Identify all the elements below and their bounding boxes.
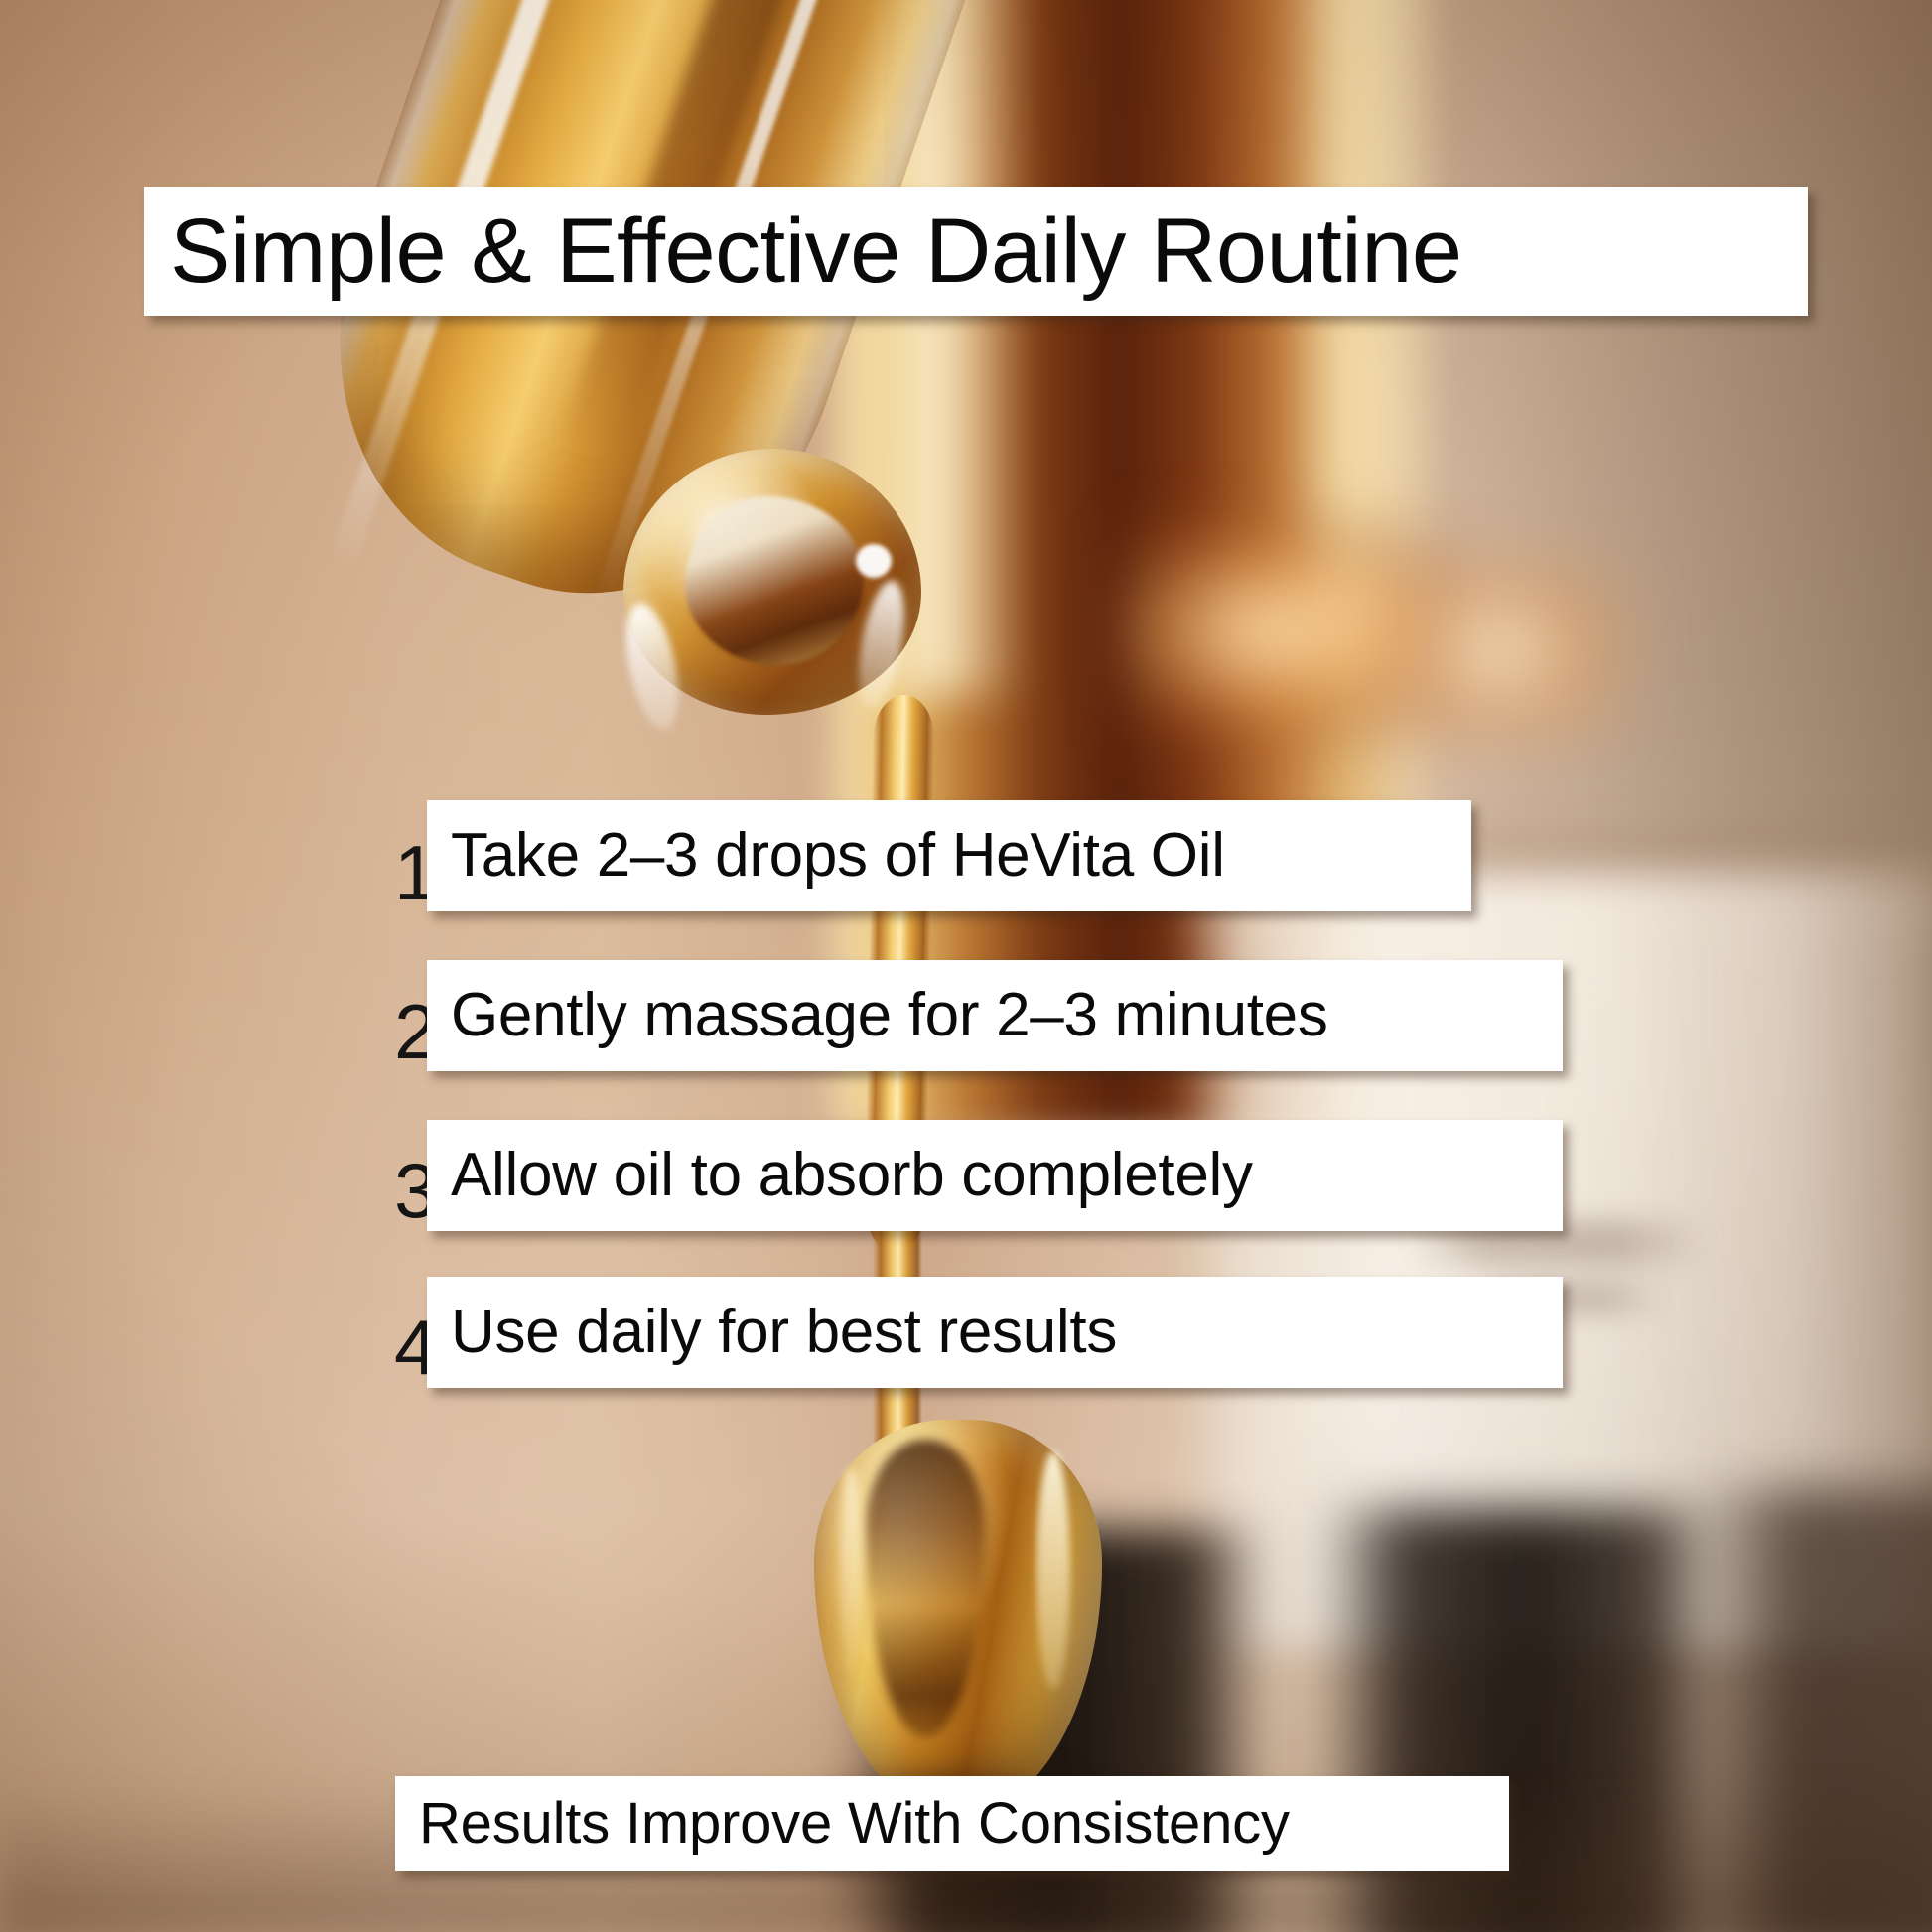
step-4-plate: Use daily for best results <box>427 1277 1563 1388</box>
step-1-text: Take 2–3 drops of HeVita Oil <box>451 823 1225 889</box>
footer-tagline-plate: Results Improve With Consistency <box>395 1776 1509 1871</box>
page-title-plate: Simple & Effective Daily Routine <box>144 187 1808 316</box>
step-2-plate: Gently massage for 2–3 minutes <box>427 960 1563 1071</box>
step-3-plate: Allow oil to absorb completely <box>427 1120 1563 1231</box>
footer-tagline: Results Improve With Consistency <box>419 1793 1290 1855</box>
step-3-text: Allow oil to absorb completely <box>451 1143 1253 1208</box>
step-4-text: Use daily for best results <box>451 1300 1117 1365</box>
step-2-text: Gently massage for 2–3 minutes <box>451 983 1328 1048</box>
poster-canvas: Simple & Effective Daily Routine 1. Take… <box>0 0 1932 1932</box>
step-1-plate: Take 2–3 drops of HeVita Oil <box>427 800 1471 911</box>
page-title: Simple & Effective Daily Routine <box>170 204 1462 299</box>
